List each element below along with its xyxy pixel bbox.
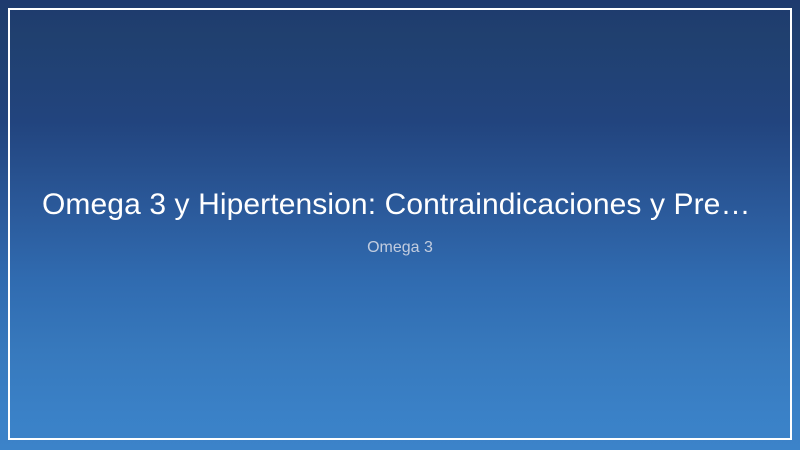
title-slide: Omega 3 y Hipertension: Contraindicacion…	[0, 0, 800, 450]
page-title: Omega 3 y Hipertension: Contraindicacion…	[42, 186, 758, 224]
slide-subtitle: Omega 3	[42, 237, 758, 259]
slide-text-block: Omega 3 y Hipertension: Contraindicacion…	[0, 186, 800, 259]
